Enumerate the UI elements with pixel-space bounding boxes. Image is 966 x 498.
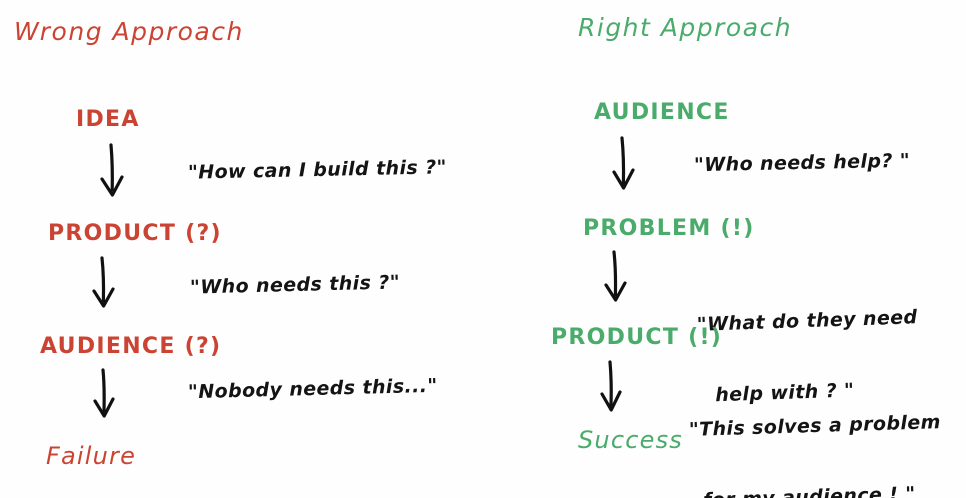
wrong-step-3-label: AUDIENCE (?) xyxy=(40,334,221,359)
arrow-down-icon-right-1 xyxy=(608,136,642,194)
arrow-down-icon-right-3 xyxy=(595,360,629,416)
right-step-1-label: AUDIENCE xyxy=(594,100,730,125)
wrong-step-2-label: PRODUCT (?) xyxy=(48,221,222,246)
right-step-3-quote-line1: "This solves a problem xyxy=(689,411,942,443)
right-step-3-quote-line2: for my audience ! " xyxy=(703,482,944,498)
diagram-canvas: Wrong Approach IDEA "How can I build thi… xyxy=(0,0,966,498)
right-approach-heading: Right Approach xyxy=(578,14,792,43)
right-step-2-label: PROBLEM (!) xyxy=(583,216,755,241)
right-step-1-quote: "Who needs help? " xyxy=(694,151,911,177)
right-step-2-quote-line1: "What do they need xyxy=(696,306,917,337)
wrong-step-1-label: IDEA xyxy=(76,107,140,132)
wrong-step-2-quote: "Who needs this ?" xyxy=(190,272,401,299)
right-step-3-quote: "This solves a problem for my audience !… xyxy=(687,363,945,498)
arrow-down-icon-right-2 xyxy=(600,250,634,306)
right-step-3-label: PRODUCT (!) xyxy=(551,325,722,350)
wrong-approach-heading: Wrong Approach xyxy=(14,18,244,47)
arrow-down-icon-wrong-3 xyxy=(88,368,122,422)
wrong-outcome-label: Failure xyxy=(46,443,136,471)
arrow-down-icon-wrong-2 xyxy=(88,256,122,312)
right-outcome-label: Success xyxy=(578,427,683,455)
arrow-down-icon-wrong-1 xyxy=(96,143,130,201)
wrong-step-1-quote: "How can I build this ?" xyxy=(188,157,447,184)
wrong-step-3-quote: "Nobody needs this..." xyxy=(188,376,438,404)
